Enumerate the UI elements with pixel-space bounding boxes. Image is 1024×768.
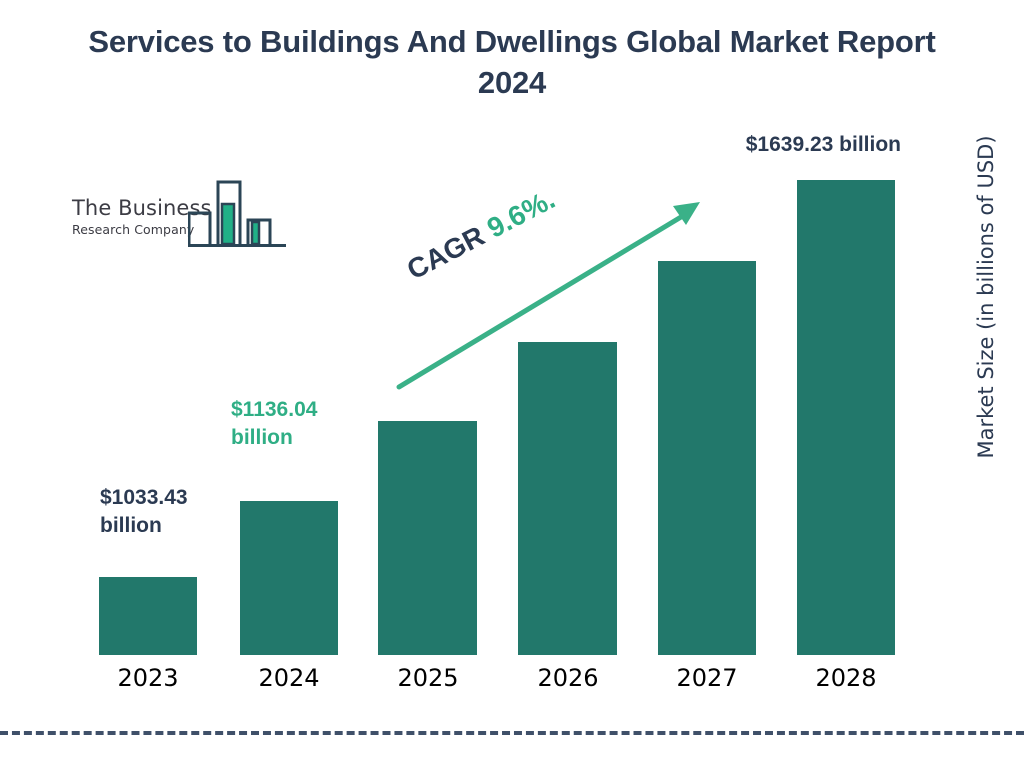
bar-2028[interactable] bbox=[797, 180, 895, 655]
value-label-2024: $1136.04 billion bbox=[231, 396, 376, 452]
y-axis-title: Market Size (in billions of USD) bbox=[974, 117, 998, 477]
value-label-2028: $1639.23 billion bbox=[620, 131, 901, 159]
value-label-2023: $1033.43 billion bbox=[100, 484, 250, 540]
bar-2026[interactable] bbox=[518, 342, 617, 655]
bar-2027[interactable] bbox=[658, 261, 756, 655]
value-label-2023-line1: $1033.43 bbox=[100, 484, 250, 512]
xtick-2025: 2025 bbox=[348, 664, 508, 692]
xtick-2027: 2027 bbox=[627, 664, 787, 692]
footer-divider bbox=[0, 731, 1024, 735]
value-label-2023-line2: billion bbox=[100, 512, 250, 540]
bar-2024[interactable] bbox=[240, 501, 338, 655]
xtick-2026: 2026 bbox=[488, 664, 648, 692]
xtick-2024: 2024 bbox=[209, 664, 369, 692]
value-label-2024-line1: $1136.04 bbox=[231, 396, 376, 424]
bar-chart-plot-area bbox=[0, 0, 1024, 768]
bar-2025[interactable] bbox=[378, 421, 477, 655]
bar-2023[interactable] bbox=[99, 577, 197, 655]
xtick-2023: 2023 bbox=[68, 664, 228, 692]
xtick-2028: 2028 bbox=[766, 664, 926, 692]
value-label-2024-line2: billion bbox=[231, 424, 376, 452]
